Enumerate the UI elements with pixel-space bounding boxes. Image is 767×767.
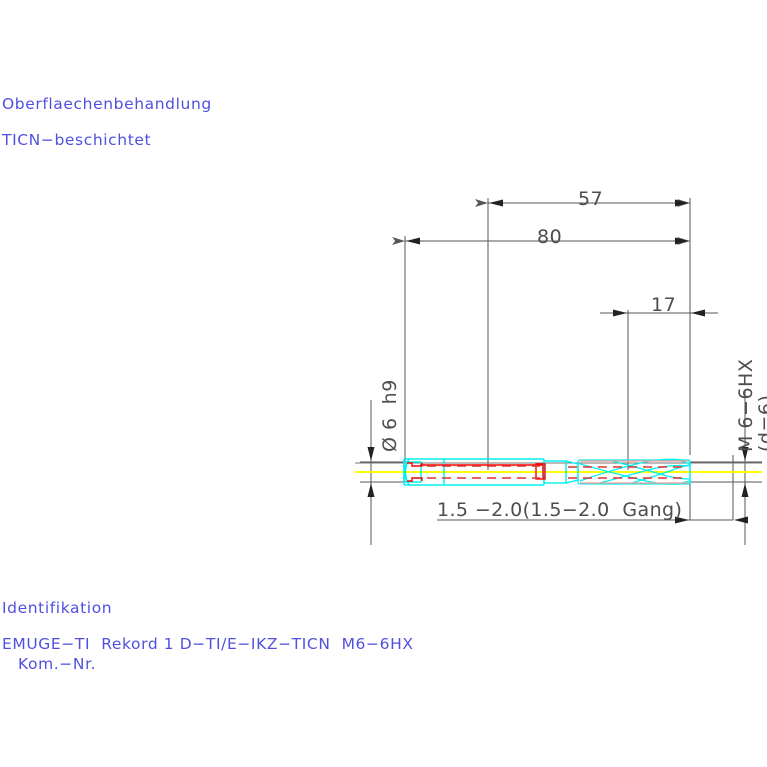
dimension-lines [371,203,745,545]
dimension-label-overall-length: 80 [537,226,562,248]
identification-kom-nr: Kom.−Nr. [18,655,96,673]
surface-treatment-heading: Oberflaechenbehandlung [2,95,212,113]
identification-product-line: EMUGE−TI Rekord 1 D−TI/E−IKZ−TICN M6−6HX [2,635,414,653]
dimension-label-pitch-range: 1.5 −2.0(1.5−2.0 Gang) [437,499,682,521]
dimension-label-shank-to-tip: 57 [578,188,603,210]
technical-drawing-canvas: Oberflaechenbehandlung TICN−beschichtet … [0,0,767,767]
dimension-label-thread-designation: M 6−6HX [735,359,757,452]
identification-heading: Identifikation [2,599,112,617]
dimension-arrowheads [368,200,749,524]
tool-centerline [355,463,762,472]
dimension-label-thread-core-diameter: (d=6) [755,395,767,452]
dimension-label-thread-length: 17 [651,294,676,316]
dimension-label-diameter: Ø 6 h9 [379,379,401,452]
surface-treatment-value: TICN−beschichtet [2,131,151,149]
